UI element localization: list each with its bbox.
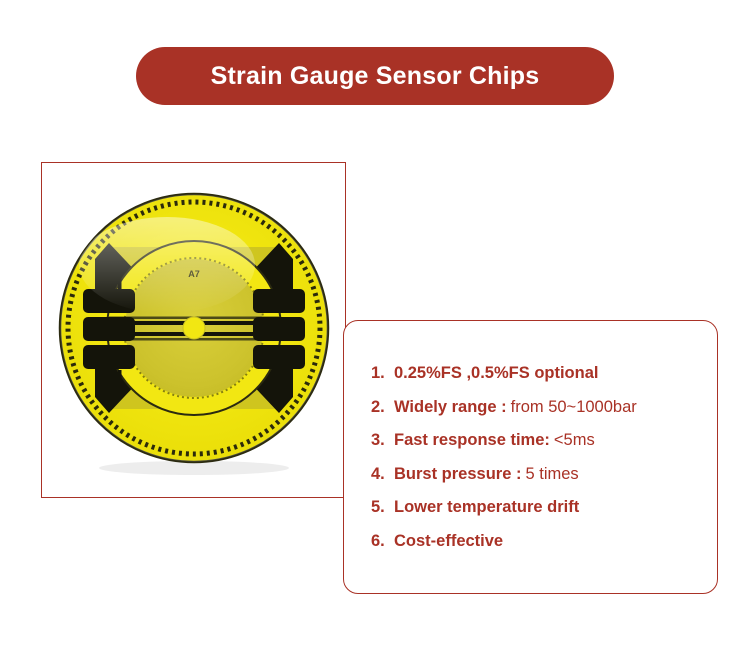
sensor-chip-image: A7 [49,185,339,475]
list-item-value: 5 times [525,466,578,483]
list-item: 5. Lower temperature drift [371,491,717,525]
page-title: Strain Gauge Sensor Chips [211,62,540,91]
list-item: 3. Fast response time: <5ms [371,424,717,458]
sensor-chip-illustration: A7 [49,185,339,475]
list-item: 2. Widely range : from 50~1000bar [371,390,717,424]
product-photo: A7 [42,163,345,497]
list-item-number: 5. [371,499,394,516]
list-item-label: Burst pressure : [394,466,521,483]
feature-list-card: 1. 0.25%FS ,0.5%FS optional 2. Widely ra… [343,320,718,594]
list-item-label: Widely range : [394,399,507,416]
list-item-label: Lower temperature drift [394,499,579,516]
list-item: 4. Burst pressure : 5 times [371,457,717,491]
list-item-value: from 50~1000bar [511,399,637,416]
list-item-label: Cost-effective [394,533,503,550]
product-photo-frame: A7 [41,162,346,498]
list-item-number: 1. [371,365,394,382]
list-item-number: 6. [371,533,394,550]
list-item-value: <5ms [554,432,595,449]
list-item-label: Fast response time: [394,432,550,449]
list-item: 6. Cost-effective [371,524,717,558]
list-item-label: 0.25%FS ,0.5%FS optional [394,365,598,382]
list-item-number: 2. [371,399,394,416]
list-item: 1. 0.25%FS ,0.5%FS optional [371,357,717,391]
list-item-number: 3. [371,432,394,449]
list-item-number: 4. [371,466,394,483]
page-title-banner: Strain Gauge Sensor Chips [136,47,614,105]
